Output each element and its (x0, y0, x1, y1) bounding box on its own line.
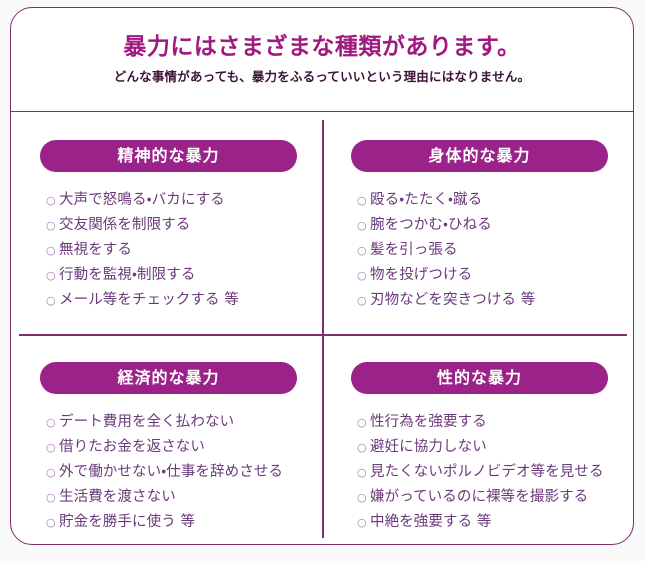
list-item: ○ 無視をする (46, 238, 314, 263)
list-item-label: 外で働かせない・仕事を辞めさせる (59, 460, 314, 485)
list-item: ○ メール等をチェックする 等 (46, 288, 314, 313)
list-item: ○ 腕をつかむ・ひねる (357, 213, 625, 238)
bullet-circle-icon: ○ (357, 510, 370, 535)
page-subtitle: どんな事情があっても、暴力をふるっていいという理由にはなりません。 (114, 70, 530, 84)
category-pill-physical: 身体的な暴力 (351, 140, 608, 172)
list-item: ○ 物を投げつける (357, 263, 625, 288)
bullet-circle-icon: ○ (46, 460, 59, 485)
list-item: ○ 貯金を勝手に使う 等 (46, 510, 314, 535)
list-item: ○ 中絶を強要する 等 (357, 510, 625, 535)
list-item-label: 生活費を渡さない (59, 485, 314, 510)
bullet-circle-icon: ○ (46, 510, 59, 535)
list-item-label: 嫌がっているのに裸等を撮影する (370, 485, 625, 510)
category-pill-psychological: 精神的な暴力 (40, 140, 297, 172)
list-item: ○ 生活費を渡さない (46, 485, 314, 510)
bullet-circle-icon: ○ (357, 460, 370, 485)
poster-card: 暴力にはさまざまな種類があります。 どんな事情があっても、暴力をふるっていいとい… (10, 7, 634, 545)
list-item-label: 見たくないポルノビデオ等を見せる (370, 460, 625, 485)
category-cell-economic: 経済的な暴力 ○ デート費用を全く払わない ○ 借りたお金を返さない ○ 外で働… (11, 334, 322, 556)
bullet-circle-icon: ○ (357, 188, 370, 213)
category-grid: 精神的な暴力 ○ 大声で怒鳴る・バカにする ○ 交友関係を制限する ○ 無視をす… (11, 112, 633, 546)
list-item: ○ 外で働かせない・仕事を辞めさせる (46, 460, 314, 485)
list-item: ○ 性行為を強要する (357, 410, 625, 435)
bullet-circle-icon: ○ (46, 213, 59, 238)
list-item-label: 貯金を勝手に使う 等 (59, 510, 314, 535)
list-item: ○ 見たくないポルノビデオ等を見せる (357, 460, 625, 485)
list-item: ○ デート費用を全く払わない (46, 410, 314, 435)
list-item-label: メール等をチェックする 等 (59, 288, 314, 313)
list-item-label: 物を投げつける (370, 263, 625, 288)
list-item-label: 大声で怒鳴る・バカにする (59, 188, 314, 213)
category-title: 性的な暴力 (437, 370, 522, 386)
list-item-label: 避妊に協力しない (370, 435, 625, 460)
bullet-circle-icon: ○ (357, 410, 370, 435)
category-item-list-economic: ○ デート費用を全く払わない ○ 借りたお金を返さない ○ 外で働かせない・仕事… (46, 410, 314, 535)
bullet-circle-icon: ○ (357, 485, 370, 510)
list-item: ○ 刃物などを突きつける 等 (357, 288, 625, 313)
list-item: ○ 大声で怒鳴る・バカにする (46, 188, 314, 213)
category-title: 身体的な暴力 (428, 148, 530, 164)
bullet-circle-icon: ○ (357, 263, 370, 288)
category-item-list-sexual: ○ 性行為を強要する ○ 避妊に協力しない ○ 見たくないポルノビデオ等を見せる… (357, 410, 625, 535)
list-item-label: 刃物などを突きつける 等 (370, 288, 625, 313)
bullet-circle-icon: ○ (46, 485, 59, 510)
list-item: ○ 借りたお金を返さない (46, 435, 314, 460)
list-item: ○ 交友関係を制限する (46, 213, 314, 238)
bullet-circle-icon: ○ (46, 263, 59, 288)
bullet-circle-icon: ○ (46, 435, 59, 460)
list-item-label: 中絶を強要する 等 (370, 510, 625, 535)
list-item-label: 借りたお金を返さない (59, 435, 314, 460)
list-item-label: デート費用を全く払わない (59, 410, 314, 435)
category-item-list-physical: ○ 殴る・たたく・蹴る ○ 腕をつかむ・ひねる ○ 髪を引っ張る ○ 物を投げつ… (357, 188, 625, 313)
bullet-circle-icon: ○ (357, 238, 370, 263)
list-item-label: 性行為を強要する (370, 410, 625, 435)
bullet-circle-icon: ○ (46, 188, 59, 213)
category-item-list-psychological: ○ 大声で怒鳴る・バカにする ○ 交友関係を制限する ○ 無視をする ○ 行動を… (46, 188, 314, 313)
bullet-circle-icon: ○ (357, 213, 370, 238)
list-item-label: 交友関係を制限する (59, 213, 314, 238)
poster-header: 暴力にはさまざまな種類があります。 どんな事情があっても、暴力をふるっていいとい… (11, 8, 633, 112)
list-item: ○ 殴る・たたく・蹴る (357, 188, 625, 213)
list-item: ○ 嫌がっているのに裸等を撮影する (357, 485, 625, 510)
list-item: ○ 避妊に協力しない (357, 435, 625, 460)
list-item-label: 腕をつかむ・ひねる (370, 213, 625, 238)
bullet-circle-icon: ○ (357, 435, 370, 460)
bullet-circle-icon: ○ (357, 288, 370, 313)
bullet-circle-icon: ○ (46, 238, 59, 263)
category-title: 経済的な暴力 (117, 370, 219, 386)
list-item-label: 無視をする (59, 238, 314, 263)
bullet-circle-icon: ○ (46, 288, 59, 313)
page-title: 暴力にはさまざまな種類があります。 (123, 35, 520, 60)
category-pill-economic: 経済的な暴力 (40, 362, 297, 394)
list-item-label: 髪を引っ張る (370, 238, 625, 263)
category-cell-psychological: 精神的な暴力 ○ 大声で怒鳴る・バカにする ○ 交友関係を制限する ○ 無視をす… (11, 112, 322, 334)
category-title: 精神的な暴力 (117, 148, 219, 164)
list-item-label: 行動を監視・制限する (59, 263, 314, 288)
category-cell-sexual: 性的な暴力 ○ 性行為を強要する ○ 避妊に協力しない ○ 見たくないポルノビデ… (322, 334, 633, 556)
bullet-circle-icon: ○ (46, 410, 59, 435)
category-cell-physical: 身体的な暴力 ○ 殴る・たたく・蹴る ○ 腕をつかむ・ひねる ○ 髪を引っ張る … (322, 112, 633, 334)
category-pill-sexual: 性的な暴力 (351, 362, 608, 394)
list-item-label: 殴る・たたく・蹴る (370, 188, 625, 213)
list-item: ○ 行動を監視・制限する (46, 263, 314, 288)
list-item: ○ 髪を引っ張る (357, 238, 625, 263)
